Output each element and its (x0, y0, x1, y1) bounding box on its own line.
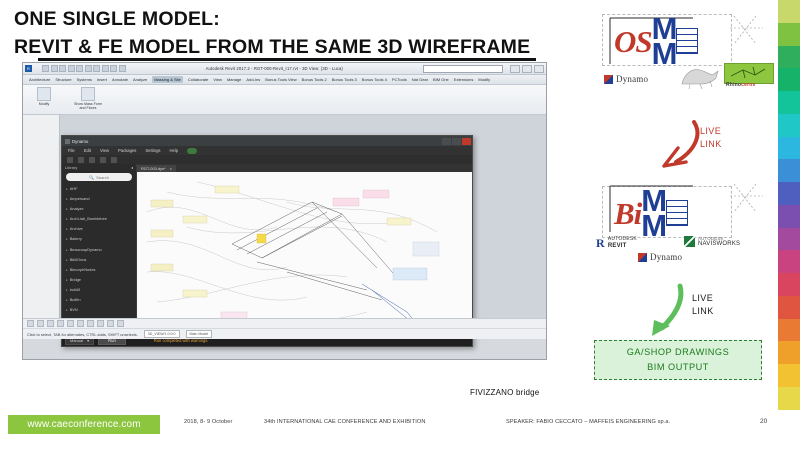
revit-window-buttons[interactable] (510, 65, 544, 73)
ribbon-tab[interactable]: Modify (478, 77, 490, 82)
revit-document-title: Autodesk Revit 2017.2 - RGT-000-Revit_r1… (126, 66, 424, 71)
save-icon[interactable] (89, 157, 95, 163)
scale-icon[interactable] (27, 320, 34, 327)
output-line-2: BIM OUTPUT (647, 360, 709, 375)
footer-url[interactable]: www.caeconference.com (8, 415, 160, 434)
dynamo-main-area: Library ◂ 🔍 Search AHF Ampersand Analyze… (62, 164, 472, 335)
qat-button[interactable] (42, 65, 49, 72)
tool-label: Dynamo (616, 74, 648, 84)
ribbon-tab[interactable]: Structure (55, 77, 71, 82)
dynamo-icon (604, 75, 613, 84)
library-item[interactable]: Analyze (66, 204, 136, 214)
revit-ribbon-panel[interactable]: Modify Show Mass Form and Floors (23, 85, 546, 115)
close-icon[interactable]: × (170, 166, 172, 171)
graph-wires (137, 172, 472, 335)
color-strip-band (778, 0, 800, 23)
ribbon-tab[interactable]: View (213, 77, 222, 82)
footer: www.caeconference.com 2018, 8- 9 October… (0, 410, 800, 450)
ribbon-tab[interactable]: PCTools (392, 77, 407, 82)
color-strip-band (778, 46, 800, 69)
decorative-color-strip (778, 0, 800, 410)
color-strip-band (778, 159, 800, 182)
revit-ribbon-tabs[interactable]: Architecture Structure Systems Insert An… (23, 75, 546, 85)
color-strip-band (778, 205, 800, 228)
block-mid-tools: R AUTODESK REVIT AUTODESK NAVISWORKS Dyn… (592, 234, 778, 266)
open-file-icon[interactable] (78, 157, 84, 163)
color-strip-band (778, 341, 800, 364)
ribbon-button-label: Show Mass Form and Floors (71, 102, 105, 110)
workflow-diagram: OS M M Dynamo Rhinoceros (588, 0, 778, 400)
color-strip-band (778, 387, 800, 410)
live-link-line2: LINK (692, 305, 714, 318)
table-grid-icon (666, 200, 688, 226)
library-tree[interactable]: AHF Ampersand Analyze Archi-lab_Bumblebe… (62, 183, 136, 335)
view-selector[interactable]: 3D_VIEW/1 0:0:0 (144, 330, 180, 338)
library-item[interactable]: BibliOnus (66, 255, 136, 265)
reveal-hidden-icon[interactable] (117, 320, 124, 327)
color-strip-band (778, 250, 800, 273)
revit-search-input[interactable] (423, 65, 503, 73)
dynamo-graph-canvas[interactable]: RGT-003.dyn* × (137, 164, 472, 335)
library-collapse-icon[interactable]: ◂ (131, 165, 133, 170)
library-header: Library ◂ (62, 164, 136, 171)
redo-icon[interactable] (111, 157, 117, 163)
graph-tab-label: RGT-003.dyn* (141, 166, 166, 171)
ribbon-tab[interactable]: BIM One (433, 77, 449, 82)
detail-level-icon[interactable] (37, 320, 44, 327)
tool-revit: R AUTODESK REVIT (596, 236, 637, 251)
dynamo-title-bar[interactable]: Dynamo (62, 136, 472, 146)
color-strip-band (778, 296, 800, 319)
close-icon[interactable] (462, 138, 471, 145)
ribbon-tab[interactable]: Systems (77, 77, 92, 82)
color-strip-band (778, 182, 800, 205)
ribbon-tab[interactable]: Collaborate (188, 77, 208, 82)
osmm-logo-mm: M M (652, 16, 676, 67)
ribbon-tab[interactable]: Nat Gear (412, 77, 428, 82)
color-strip-band (778, 114, 800, 137)
worksharing-icon[interactable] (107, 320, 114, 327)
qat-button[interactable] (76, 65, 83, 72)
color-strip-band (778, 137, 800, 160)
library-item[interactable]: Archi-lab_Bumblebee (66, 214, 136, 224)
dynamo-menu-bar[interactable]: File Edit View Packages Settings Help (62, 146, 472, 155)
output-line-1: GA/SHOP DRAWINGS (627, 345, 729, 360)
ribbon-button[interactable]: Show Mass Form and Floors (71, 87, 105, 110)
library-item[interactable]: Bakery (66, 234, 136, 244)
library-item[interactable]: build3 (66, 285, 136, 295)
visual-style-icon[interactable] (47, 320, 54, 327)
qat-button[interactable] (93, 65, 100, 72)
ribbon-button[interactable]: Modify (27, 87, 61, 106)
live-link-label-green: LIVE LINK (692, 292, 714, 318)
crop-view-icon[interactable] (87, 320, 94, 327)
menu-item-view[interactable]: View (100, 148, 109, 153)
menu-item-help[interactable]: Help (170, 148, 179, 153)
ribbon-tab[interactable]: Architecture (29, 77, 50, 82)
sun-path-icon[interactable] (57, 320, 64, 327)
page-title: ONE SINGLE MODEL: REVIT & FE MODEL FROM … (14, 6, 574, 61)
ribbon-tab[interactable]: Bonus Tools 3 (332, 77, 357, 82)
library-search-input[interactable]: 🔍 Search (66, 173, 132, 181)
library-item[interactable]: Archive (66, 224, 136, 234)
bimm-logo-mm: M M (641, 188, 665, 239)
revit-icon: R (596, 236, 605, 251)
new-file-icon[interactable] (67, 157, 73, 163)
color-strip-band (778, 68, 800, 91)
ribbon-tab[interactable]: Analyze (133, 77, 147, 82)
dynamo-tab-bar[interactable]: RGT-003.dyn* × (137, 164, 472, 172)
color-strip-band (778, 273, 800, 296)
qat-button[interactable] (110, 65, 117, 72)
title-line-1: ONE SINGLE MODEL: (14, 6, 574, 34)
qat-button[interactable] (51, 65, 58, 72)
grasshopper-icon (724, 63, 774, 84)
color-strip-band (778, 91, 800, 114)
revit-status-bar[interactable]: Click to select, TAB for alternates, CTR… (23, 318, 546, 339)
hide-isolate-icon[interactable] (97, 320, 104, 327)
ribbon-tab[interactable]: Insert (97, 77, 107, 82)
navisworks-icon (684, 236, 695, 247)
search-icon: 🔍 (89, 175, 94, 180)
revit-workspace: Dynamo File Edit View Packages Settings … (23, 115, 546, 339)
library-item[interactable]: AHF (66, 184, 136, 194)
ribbon-tab[interactable]: Annotate (112, 77, 128, 82)
block-top-tools: Dynamo Rhinoceros (598, 62, 778, 88)
screenshot-caption: FIVIZZANO bridge (470, 388, 539, 397)
maximize-icon[interactable] (522, 65, 532, 73)
dynamo-window[interactable]: Dynamo File Edit View Packages Settings … (61, 135, 473, 347)
live-link-arrow-green (640, 282, 696, 344)
tool-navisworks: AUTODESK NAVISWORKS (684, 236, 740, 248)
undo-icon[interactable] (100, 157, 106, 163)
dynamo-icon (638, 253, 647, 262)
color-strip-band (778, 23, 800, 46)
dynamo-window-title: Dynamo (72, 139, 88, 144)
dynamo-library-panel[interactable]: Library ◂ 🔍 Search AHF Ampersand Analyze… (62, 164, 137, 335)
library-item[interactable]: BVN (66, 305, 136, 315)
tool-product: NAVISWORKS (698, 241, 740, 248)
page-number: 20 (760, 418, 767, 425)
ribbon-tab[interactable]: Add-Ins (246, 77, 260, 82)
minimize-icon[interactable] (510, 65, 520, 73)
ribbon-tab[interactable]: Manage (227, 77, 241, 82)
tool-product: REVIT (608, 243, 637, 250)
dynamo-window-buttons[interactable] (442, 138, 472, 145)
modify-icon (37, 87, 51, 101)
minimize-icon[interactable] (442, 138, 451, 145)
revit-view-control-bar[interactable] (23, 319, 546, 329)
ribbon-button-label: Modify (39, 102, 50, 106)
bimm-logo: Bi M M (614, 188, 688, 239)
menu-item-edit[interactable]: Edit (84, 148, 91, 153)
osmm-logo-os: OS (614, 26, 652, 57)
menu-item-file[interactable]: File (68, 148, 75, 153)
title-underline (38, 58, 536, 61)
library-item[interactable]: BuiltIn (66, 295, 136, 305)
color-strip-band (778, 364, 800, 387)
live-link-line2: LINK (700, 138, 722, 151)
live-link-line1: LIVE (692, 292, 714, 305)
ribbon-tab[interactable]: Bonus Tools 4 (362, 77, 387, 82)
qat-button[interactable] (59, 65, 66, 72)
bimm-logo-bi: Bi (614, 198, 641, 229)
dynamo-app-icon (65, 139, 70, 144)
shadows-icon[interactable] (67, 320, 74, 327)
library-item[interactable]: BimorphNodes (66, 265, 136, 275)
color-strip-band (778, 228, 800, 251)
filter-selector[interactable]: Main Model (186, 330, 213, 338)
footer-speaker: SPEAKER: FABIO CECCATO – MAFFEIS ENGINEE… (506, 419, 670, 425)
ribbon-tab[interactable]: Extensions (454, 77, 474, 82)
ribbon-tab[interactable]: Bonus Tools 2 (302, 77, 327, 82)
menu-item-packages[interactable]: Packages (118, 148, 136, 153)
qat-button[interactable] (102, 65, 109, 72)
maximize-icon[interactable] (452, 138, 461, 145)
show-mass-icon (81, 87, 95, 101)
library-item[interactable]: Ampersand (66, 194, 136, 204)
osmm-logo: OS M M (614, 16, 698, 67)
dynamo-node-graph[interactable] (137, 172, 472, 335)
footer-conference: 34th INTERNATIONAL CAE CONFERENCE AND EX… (264, 419, 425, 425)
library-item[interactable]: Bridge (66, 275, 136, 285)
library-title: Library (65, 165, 77, 170)
footer-date: 2018, 8- 9 October (184, 419, 232, 425)
tool-dynamo: Dynamo (604, 74, 648, 84)
live-link-line1: LIVE (700, 125, 722, 138)
tool-dynamo-2: Dynamo (638, 252, 682, 262)
dynamo-logo-icon (187, 148, 197, 154)
search-placeholder: Search (96, 175, 109, 180)
tool-label-rhino: Rhinoceros (726, 82, 756, 88)
qat-button[interactable] (85, 65, 92, 72)
revit-quick-access-toolbar[interactable] (42, 65, 126, 72)
output-box: GA/SHOP DRAWINGS BIM OUTPUT (594, 340, 762, 380)
revit-status-hint-bar: Click to select, TAB for alternates, CTR… (23, 329, 546, 339)
color-strip-band (778, 319, 800, 342)
revit-title-bar: R Autodesk Revit 2017.2 - RGT-000-Revit_… (23, 63, 546, 75)
rhino-icon (676, 62, 724, 90)
tool-label: Dynamo (650, 252, 682, 262)
ribbon-tab-active[interactable]: Massing & Site (152, 76, 183, 83)
live-link-label-red: LIVE LINK (700, 125, 722, 151)
qat-button[interactable] (68, 65, 75, 72)
status-hint-text: Click to select, TAB for alternates, CTR… (27, 332, 138, 337)
ribbon-tab[interactable]: Bonus Tools View (265, 77, 296, 82)
revit-app-icon: R (25, 65, 32, 72)
close-icon[interactable] (534, 65, 544, 73)
render-icon[interactable] (77, 320, 84, 327)
table-grid-icon (676, 28, 698, 54)
graph-tab[interactable]: RGT-003.dyn* × (137, 165, 176, 172)
menu-item-settings[interactable]: Settings (145, 148, 160, 153)
revit-screenshot: R Autodesk Revit 2017.2 - RGT-000-Revit_… (22, 62, 547, 360)
qat-button[interactable] (119, 65, 126, 72)
library-item[interactable]: BeaucoupDynamo (66, 245, 136, 255)
